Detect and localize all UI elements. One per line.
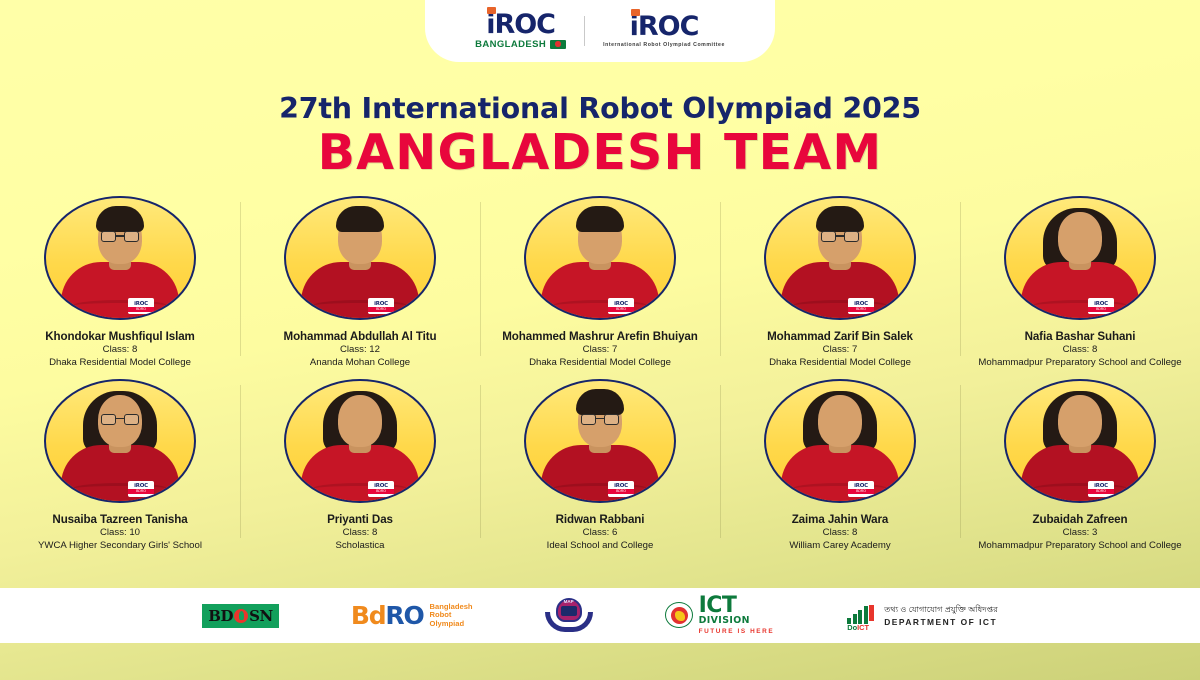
- crest-label: MAP: [545, 599, 593, 604]
- tshirt-iroc-badge: iROCBDRO: [128, 481, 154, 497]
- iroc-i-dot-icon: [487, 7, 496, 14]
- glasses-icon: [101, 231, 139, 242]
- face-icon: [1058, 212, 1102, 264]
- team-row-1: iROCBDROKhondokar Mushfiqul IslamClass: …: [0, 196, 1200, 370]
- doict-label-ict: ICT: [857, 623, 869, 632]
- title-block: 27th International Robot Olympiad 2025 B…: [0, 92, 1200, 178]
- member-name: Mohammad Abdullah Al Titu: [284, 329, 437, 344]
- member-card: iROCBDRONafia Bashar SuhaniClass: 8Moham…: [960, 196, 1200, 370]
- badge-sub: BDRO: [848, 307, 874, 312]
- member-class: Class: 12: [284, 344, 437, 357]
- member-class: Class: 8: [789, 527, 890, 540]
- badge-sub: BDRO: [1088, 489, 1114, 494]
- member-photo: iROCBDRO: [44, 379, 196, 503]
- badge-sub: BDRO: [608, 307, 634, 312]
- member-photo: iROCBDRO: [524, 379, 676, 503]
- member-caption: Zubaidah ZafreenClass: 3Mohammadpur Prep…: [978, 512, 1181, 553]
- member-name: Ridwan Rabbani: [547, 512, 654, 527]
- member-class: Class: 6: [547, 527, 654, 540]
- tshirt-iroc-badge: iROCBDRO: [848, 298, 874, 314]
- hair-icon: [576, 389, 624, 415]
- sponsor-doict-logo: DoICT তথ্য ও যোগাযোগ প্রযুক্তি অধিদপ্তর …: [846, 601, 998, 631]
- badge-sub: BDRO: [608, 489, 634, 494]
- sponsor-bdro-logo: BdRO Bangladesh Robot Olympiad: [351, 601, 473, 630]
- glasses-icon: [101, 414, 139, 425]
- tshirt-iroc-badge: iROCBDRO: [368, 298, 394, 314]
- face-icon: [338, 395, 382, 447]
- member-photo: iROCBDRO: [44, 196, 196, 320]
- team-grid: iROCBDROKhondokar Mushfiqul IslamClass: …: [0, 196, 1200, 552]
- doict-english-label: DEPARTMENT OF ICT: [884, 617, 998, 627]
- member-school: Ideal School and College: [547, 540, 654, 553]
- member-school: William Carey Academy: [789, 540, 890, 553]
- tshirt-iroc-badge: iROCBDRO: [128, 298, 154, 314]
- bdosn-text-right: SN: [249, 607, 273, 625]
- member-school: Scholastica: [327, 540, 393, 553]
- iroc-wordmark-right: iROC: [630, 14, 699, 39]
- bangladesh-govt-emblem-icon: [665, 602, 693, 628]
- member-school: YWCA Higher Secondary Girls' School: [38, 540, 202, 553]
- member-name: Priyanti Das: [327, 512, 393, 527]
- member-caption: Khondokar Mushfiqul IslamClass: 8Dhaka R…: [45, 329, 195, 370]
- member-school: Dhaka Residential Model College: [767, 357, 913, 370]
- doict-signal-bars-icon: DoICT: [846, 601, 878, 631]
- iroc-wordmark-left-text: iROC: [486, 9, 555, 40]
- member-name: Nusaiba Tazreen Tanisha: [38, 512, 202, 527]
- member-caption: Nafia Bashar SuhaniClass: 8Mohammadpur P…: [978, 329, 1181, 370]
- member-name: Khondokar Mushfiqul Islam: [45, 329, 195, 344]
- header-logo-banner: iROC BANGLADESH iROC International Robot…: [425, 0, 775, 62]
- member-school: Dhaka Residential Model College: [45, 357, 195, 370]
- member-photo: iROCBDRO: [764, 196, 916, 320]
- face-icon: [818, 395, 862, 447]
- member-photo: iROCBDRO: [284, 379, 436, 503]
- hair-icon: [336, 206, 384, 232]
- bdosn-text-left: BD: [208, 607, 233, 625]
- bdosn-opensource-icon: [234, 609, 248, 623]
- member-card: iROCBDROMohammad Zarif Bin SalekClass: 7…: [720, 196, 960, 370]
- member-name: Mohammad Zarif Bin Salek: [767, 329, 913, 344]
- bangladesh-flag-icon: [550, 40, 566, 49]
- member-caption: Mohammed Mashrur Arefin BhuiyanClass: 7D…: [502, 329, 698, 370]
- member-class: Class: 8: [45, 344, 195, 357]
- doict-label-do: Do: [847, 623, 857, 632]
- hair-icon: [816, 206, 864, 232]
- member-photo: iROCBDRO: [1004, 196, 1156, 320]
- member-school: Dhaka Residential Model College: [502, 357, 698, 370]
- iroc-i-dot-icon: [631, 9, 640, 16]
- iroc-bangladesh-label: BANGLADESH: [475, 39, 546, 50]
- tshirt-iroc-badge: iROCBDRO: [848, 481, 874, 497]
- ict-wordmark: ICT: [699, 596, 775, 616]
- tshirt-iroc-badge: iROCBDRO: [1088, 481, 1114, 497]
- iroc-wordmark-left: iROC: [486, 12, 555, 37]
- member-name: Nafia Bashar Suhani: [978, 329, 1181, 344]
- member-caption: Mohammad Abdullah Al TituClass: 12Ananda…: [284, 329, 437, 370]
- badge-sub: BDRO: [368, 489, 394, 494]
- tshirt-iroc-badge: iROCBDRO: [368, 481, 394, 497]
- member-photo: iROCBDRO: [284, 196, 436, 320]
- member-caption: Ridwan RabbaniClass: 6Ideal School and C…: [547, 512, 654, 553]
- member-card: iROCBDRORidwan RabbaniClass: 6Ideal Scho…: [480, 379, 720, 553]
- member-card: iROCBDROKhondokar Mushfiqul IslamClass: …: [0, 196, 240, 370]
- logo-divider: [584, 16, 585, 46]
- face-icon: [1058, 395, 1102, 447]
- iroc-committee-label: International Robot Olympiad Committee: [603, 42, 725, 48]
- member-school: Mohammadpur Preparatory School and Colle…: [978, 357, 1181, 370]
- event-title: 27th International Robot Olympiad 2025: [0, 92, 1200, 125]
- badge-sub: BDRO: [128, 307, 154, 312]
- badge-sub: BDRO: [128, 489, 154, 494]
- hair-icon: [96, 206, 144, 232]
- member-caption: Priyanti DasClass: 8Scholastica: [327, 512, 393, 553]
- member-class: Class: 7: [502, 344, 698, 357]
- member-school: Ananda Mohan College: [284, 357, 437, 370]
- badge-sub: BDRO: [368, 307, 394, 312]
- sponsor-bar: BD SN BdRO Bangladesh Robot Olympiad MAP…: [0, 588, 1200, 643]
- iroc-international-logo: iROC International Robot Olympiad Commit…: [603, 14, 725, 47]
- member-photo: iROCBDRO: [764, 379, 916, 503]
- team-title: BANGLADESH TEAM: [0, 127, 1200, 178]
- tshirt-iroc-badge: iROCBDRO: [1088, 298, 1114, 314]
- tshirt-iroc-badge: iROCBDRO: [608, 298, 634, 314]
- member-class: Class: 8: [327, 527, 393, 540]
- bdro-wordmark-bd: Bd: [351, 601, 386, 630]
- member-card: iROCBDRONusaiba Tazreen TanishaClass: 10…: [0, 379, 240, 553]
- hair-icon: [576, 206, 624, 232]
- tshirt-iroc-badge: iROCBDRO: [608, 481, 634, 497]
- member-class: Class: 10: [38, 527, 202, 540]
- team-row-2: iROCBDRONusaiba Tazreen TanishaClass: 10…: [0, 379, 1200, 553]
- member-card: iROCBDROZaima Jahin WaraClass: 8William …: [720, 379, 960, 553]
- doict-flag-icon: [869, 605, 874, 621]
- iroc-wordmark-right-text: iROC: [630, 11, 699, 42]
- member-photo: iROCBDRO: [524, 196, 676, 320]
- bdro-wordmark-ro: RO: [385, 601, 423, 630]
- member-card: iROCBDROZubaidah ZafreenClass: 3Mohammad…: [960, 379, 1200, 553]
- sponsor-ict-division-logo: ICT DIVISION FUTURE IS HERE: [665, 596, 775, 636]
- ict-tagline: FUTURE IS HERE: [699, 628, 775, 635]
- member-caption: Zaima Jahin WaraClass: 8William Carey Ac…: [789, 512, 890, 553]
- member-card: iROCBDROPriyanti DasClass: 8Scholastica: [240, 379, 480, 553]
- member-card: iROCBDROMohammad Abdullah Al TituClass: …: [240, 196, 480, 370]
- member-photo: iROCBDRO: [1004, 379, 1156, 503]
- member-caption: Nusaiba Tazreen TanishaClass: 10YWCA Hig…: [38, 512, 202, 553]
- ict-division-label: DIVISION: [699, 615, 775, 626]
- doict-bangla-label: তথ্য ও যোগাযোগ প্রযুক্তি অধিদপ্তর: [884, 604, 998, 617]
- member-caption: Mohammad Zarif Bin SalekClass: 7Dhaka Re…: [767, 329, 913, 370]
- member-class: Class: 7: [767, 344, 913, 357]
- member-name: Zubaidah Zafreen: [978, 512, 1181, 527]
- bdro-sub-line3: Olympiad: [430, 620, 473, 629]
- member-name: Zaima Jahin Wara: [789, 512, 890, 527]
- member-card: iROCBDROMohammed Mashrur Arefin BhuiyanC…: [480, 196, 720, 370]
- iroc-bangladesh-logo: iROC BANGLADESH: [475, 12, 566, 49]
- member-class: Class: 8: [978, 344, 1181, 357]
- glasses-icon: [821, 231, 859, 242]
- member-class: Class: 3: [978, 527, 1181, 540]
- badge-sub: BDRO: [1088, 307, 1114, 312]
- sponsor-bdosn-logo: BD SN: [202, 604, 279, 628]
- sponsor-university-crest-logo: MAP: [545, 598, 593, 634]
- badge-sub: BDRO: [848, 489, 874, 494]
- member-name: Mohammed Mashrur Arefin Bhuiyan: [502, 329, 698, 344]
- member-school: Mohammadpur Preparatory School and Colle…: [978, 540, 1181, 553]
- glasses-icon: [581, 414, 619, 425]
